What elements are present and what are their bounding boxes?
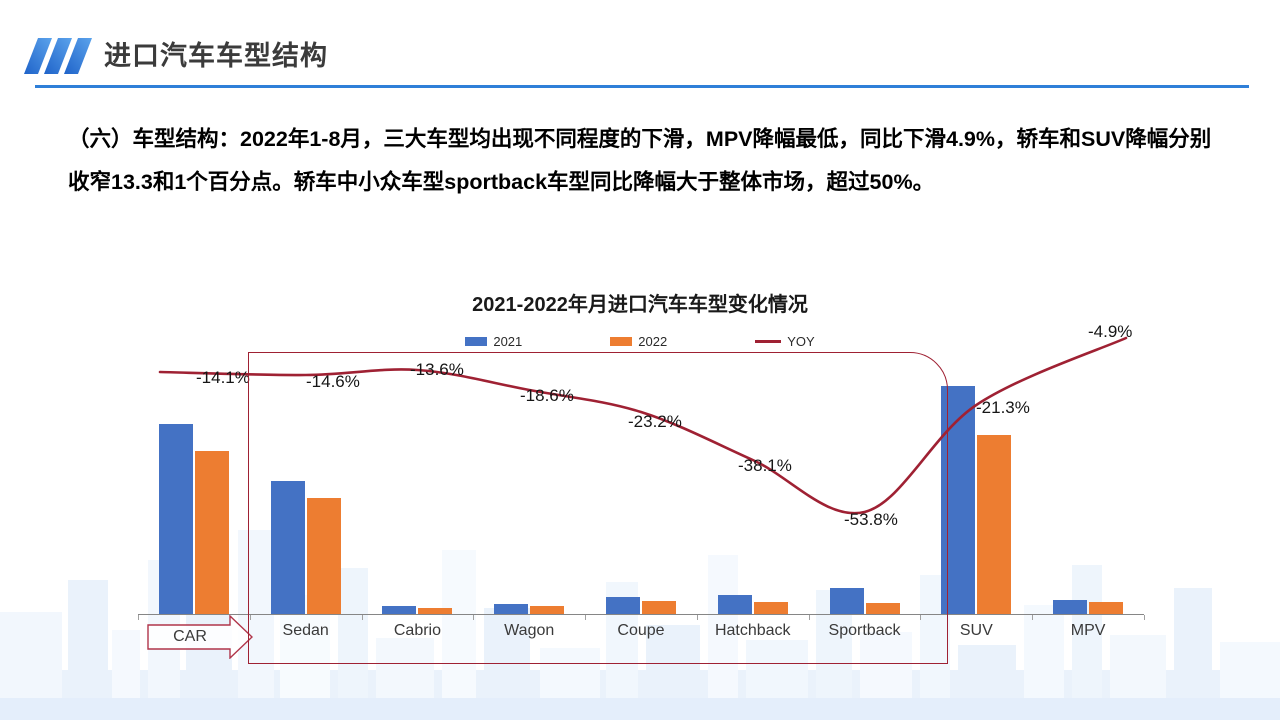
x-label-coupe: Coupe [585, 622, 697, 640]
yoy-label-mpv: -4.9% [1088, 322, 1132, 342]
chart-container: 2021-2022年月进口汽车车型变化情况 2021 2022 YOY -14.… [0, 270, 1280, 680]
x-label-sedan: Sedan [250, 622, 362, 640]
plot-area: -14.1%-14.6%-13.6%-18.6%-23.2%-38.1%-53.… [138, 315, 1144, 615]
x-label-sportback: Sportback [809, 622, 921, 640]
yoy-line-layer [138, 260, 1144, 620]
car-callout-label: CAR [147, 615, 233, 659]
x-tick [1144, 615, 1145, 620]
x-axis-labels: SedanCabrioWagonCoupeHatchbackSportbackS… [138, 622, 1144, 652]
x-label-mpv: MPV [1032, 622, 1144, 640]
yoy-label-coupe: -23.2% [628, 412, 682, 432]
yoy-label-sedan: -14.6% [306, 372, 360, 392]
header-divider [35, 85, 1249, 88]
page-header: 进口汽车车型结构 [0, 0, 1280, 92]
x-label-hatchback: Hatchback [697, 622, 809, 640]
x-label-wagon: Wagon [473, 622, 585, 640]
triple-slash-logo-icon [24, 38, 94, 74]
x-label-suv: SUV [920, 622, 1032, 640]
yoy-label-suv: -21.3% [976, 398, 1030, 418]
yoy-label-car: -14.1% [196, 368, 250, 388]
page-title: 进口汽车车型结构 [104, 38, 328, 74]
yoy-label-hatchback: -38.1% [738, 456, 792, 476]
x-label-cabrio: Cabrio [362, 622, 474, 640]
body-paragraph: （六）车型结构：2022年1-8月，三大车型均出现不同程度的下滑，MPV降幅最低… [68, 118, 1232, 204]
yoy-label-sportback: -53.8% [844, 510, 898, 530]
yoy-label-wagon: -18.6% [520, 386, 574, 406]
yoy-label-cabrio: -13.6% [410, 360, 464, 380]
